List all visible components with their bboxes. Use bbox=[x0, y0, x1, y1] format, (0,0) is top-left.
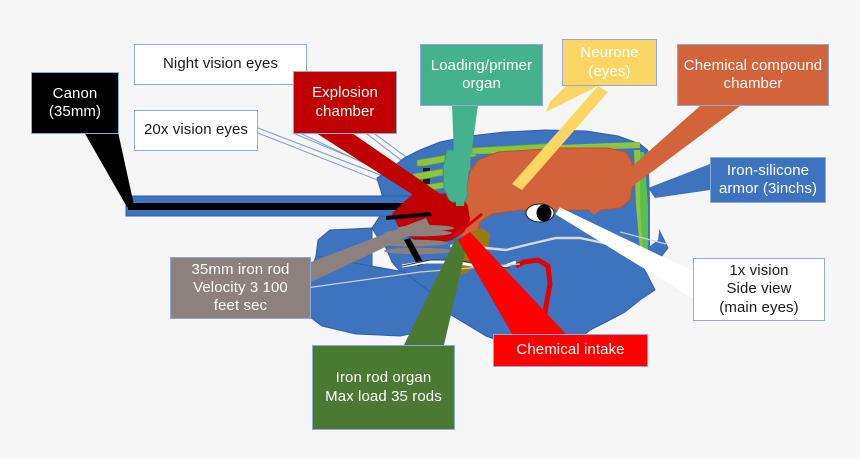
pointer-canon bbox=[84, 132, 134, 207]
callout-night-vision[interactable]: Night vision eyes bbox=[134, 44, 307, 85]
callout-iron-rod-organ[interactable]: Iron rod organ Max load 35 rods bbox=[312, 345, 455, 430]
callout-neurone[interactable]: Neurone (eyes) bbox=[562, 39, 657, 86]
callout-canon[interactable]: Canon (35mm) bbox=[31, 72, 119, 134]
diagram-stage: Canon (35mm) Night vision eyes 20x visio… bbox=[0, 0, 860, 459]
callout-armor[interactable]: Iron-silicone armor (3inchs) bbox=[710, 157, 826, 203]
callout-chem-compound[interactable]: Chemical compound chamber bbox=[677, 44, 829, 106]
callout-loading-primer[interactable]: Loading/primer organ bbox=[420, 44, 543, 106]
callout-chemical-intake[interactable]: Chemical intake bbox=[493, 334, 648, 367]
main-eye-pupil bbox=[537, 205, 552, 222]
callout-iron-rod-spec[interactable]: 35mm iron rod Velocity 3 100 feet sec bbox=[170, 257, 311, 319]
cannon-barrel-bore bbox=[128, 203, 434, 210]
callout-explosion[interactable]: Explosion chamber bbox=[293, 71, 397, 134]
callout-1x-vision[interactable]: 1x vision Side view (main eyes) bbox=[693, 258, 825, 321]
callout-20x-vision[interactable]: 20x vision eyes bbox=[134, 110, 258, 151]
